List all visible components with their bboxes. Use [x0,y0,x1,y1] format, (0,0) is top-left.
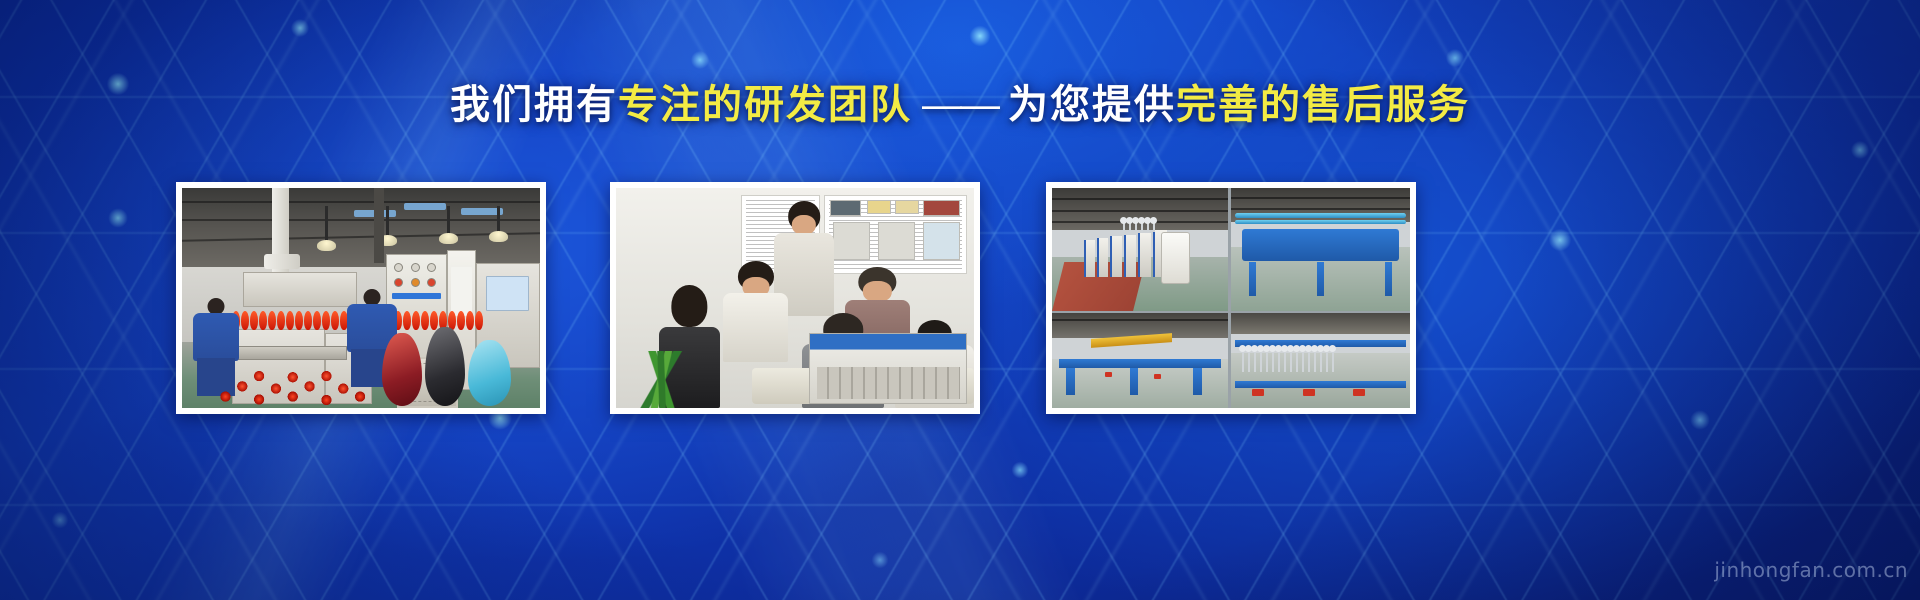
page-title: 我们拥有专注的研发团队——为您提供完善的售后服务 [0,82,1920,128]
machine-photo-inset [809,333,967,403]
collage-cell-top-right [1231,188,1410,311]
person-seated-center [723,261,787,362]
pendant-lamp-1 [325,206,328,241]
ceiling-truss-2 [182,219,540,221]
oven-body [243,272,358,307]
skylight-2 [404,203,446,210]
poster-photo-1 [830,200,861,215]
photo-equipment-collage-image [1052,188,1410,408]
vase-red [382,333,421,406]
control-button-orange [411,278,420,287]
control-knob-2 [411,263,420,272]
vase-black [425,327,464,406]
poster-diagram-2 [878,222,915,261]
tunnel-window [486,276,529,311]
control-button-red-2 [427,278,436,287]
control-knob-3 [427,263,436,272]
steel-column [374,188,385,263]
photo-equipment-collage[interactable] [1046,182,1416,414]
photo-row [0,182,1920,414]
poster-photo-3 [895,200,919,214]
poster-photo-2 [867,200,891,214]
ceiling-truss-1 [182,201,540,203]
banner-stage: 我们拥有专注的研发团队——为您提供完善的售后服务 [0,0,1920,600]
photo-team-meeting-image [616,188,974,408]
control-knob-1 [394,263,403,272]
red-spheres-pile [203,351,389,408]
poster-board-right [824,195,967,274]
pendant-lamp-2 [386,206,389,237]
title-segment-4: 完善的售后服务 [1176,83,1470,127]
potted-plant [616,351,709,408]
poster-diagram-1 [833,222,870,261]
poster-photo-4 [923,200,960,215]
control-button-red-1 [394,278,403,287]
title-separator-dash: —— [912,83,1008,127]
site-watermark: jinhongfan.com.cn [1714,558,1908,582]
collage-cell-top-left [1052,188,1228,311]
pendant-lamp-3 [447,206,450,235]
exhaust-hood [264,254,300,269]
photo-workshop-line-image [182,188,540,408]
title-segment-3: 为您提供 [1008,83,1176,127]
poster-diagram-3 [923,222,960,261]
collage-cell-bottom-right [1231,313,1410,408]
photo-workshop-line[interactable] [176,182,546,414]
photo-team-meeting[interactable] [610,182,980,414]
cabinet-document [451,267,472,315]
title-segment-2: 专注的研发团队 [618,83,912,127]
pendant-lamp-4 [497,206,500,232]
panel-label-strip [392,293,441,299]
collage-cell-bottom-left [1052,313,1228,408]
title-segment-1: 我们拥有 [450,83,618,127]
